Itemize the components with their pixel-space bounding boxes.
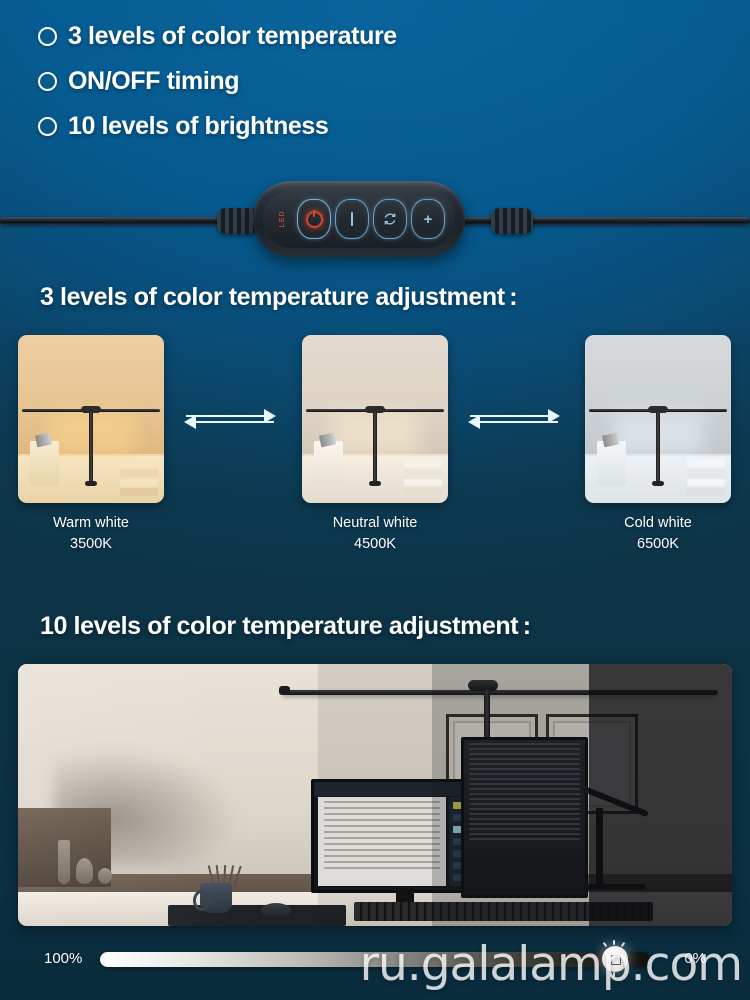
inline-controller-photo: LED +: [0, 160, 750, 280]
brightness-max-label: 100%: [44, 950, 82, 967]
site-watermark: ru.galalamp.com: [360, 937, 742, 992]
exchange-arrow-icon: [182, 404, 278, 434]
cold-white-thumbnail: [585, 335, 731, 503]
bullet-circle-icon: [38, 27, 57, 46]
color-temperature-label: Warm white 3500K: [18, 513, 164, 555]
color-cycle-button[interactable]: [373, 199, 407, 239]
color-temperature-label: Cold white 6500K: [585, 513, 731, 555]
power-icon: [306, 211, 323, 228]
lamp-pole: [89, 412, 93, 483]
desk-scene: [585, 335, 731, 503]
photo-vignette: [18, 664, 732, 926]
product-infographic-page: 3 levels of color temperature ON/OFF tim…: [0, 0, 750, 1000]
color-temperature-name: Neutral white: [302, 513, 448, 534]
color-cycle-icon: [382, 211, 398, 227]
feature-label: ON/OFF timing: [68, 67, 239, 96]
lamp-base: [369, 481, 381, 486]
color-temperature-kelvin: 4500K: [302, 534, 448, 555]
feature-label: 10 levels of brightness: [68, 112, 328, 141]
controller-body: LED +: [253, 181, 465, 257]
color-temperature-item: Cold white 6500K: [585, 335, 731, 555]
plus-button[interactable]: +: [411, 199, 445, 239]
pen-holder: [30, 441, 59, 485]
color-temperature-row: Warm white 3500K: [0, 335, 750, 570]
color-temperature-name: Cold white: [585, 513, 731, 534]
color-temperature-item: Warm white 3500K: [18, 335, 164, 555]
feature-item: 3 levels of color temperature: [38, 22, 397, 51]
book-stack: [404, 459, 442, 491]
lamp-pole: [656, 412, 660, 483]
cable-strain-relief-right: [491, 208, 533, 234]
bullet-circle-icon: [38, 72, 57, 91]
controller-brand-label: LED: [279, 211, 286, 228]
feature-item: 10 levels of brightness: [38, 112, 397, 141]
plus-icon: +: [424, 212, 433, 227]
color-temperature-heading: 3 levels of color temperature adjustment…: [40, 283, 517, 312]
controller-face: LED +: [263, 190, 455, 248]
color-temperature-item: Neutral white 4500K: [302, 335, 448, 555]
exchange-arrow-icon: [466, 404, 562, 434]
bullet-circle-icon: [38, 117, 57, 136]
lamp-base: [85, 481, 97, 486]
warm-white-thumbnail: [18, 335, 164, 503]
pen-holder: [597, 441, 626, 485]
color-temperature-kelvin: 6500K: [585, 534, 731, 555]
feature-label: 3 levels of color temperature: [68, 22, 397, 51]
minus-icon: [351, 212, 353, 226]
color-temperature-label: Neutral white 4500K: [302, 513, 448, 555]
color-temperature-kelvin: 3500K: [18, 534, 164, 555]
minus-button[interactable]: [335, 199, 369, 239]
book-stack: [687, 459, 725, 491]
feature-item: ON/OFF timing: [38, 67, 397, 96]
pen-holder: [314, 441, 343, 485]
brightness-demo-photo: [18, 664, 732, 926]
brightness-heading: 10 levels of color temperature adjustmen…: [40, 612, 531, 641]
color-temperature-name: Warm white: [18, 513, 164, 534]
neutral-white-thumbnail: [302, 335, 448, 503]
feature-list: 3 levels of color temperature ON/OFF tim…: [38, 22, 397, 157]
power-button[interactable]: [297, 199, 331, 239]
book-stack: [120, 459, 158, 491]
desk-scene: [18, 335, 164, 503]
desk-scene: [302, 335, 448, 503]
lamp-pole: [373, 412, 377, 483]
lamp-base: [652, 481, 664, 486]
